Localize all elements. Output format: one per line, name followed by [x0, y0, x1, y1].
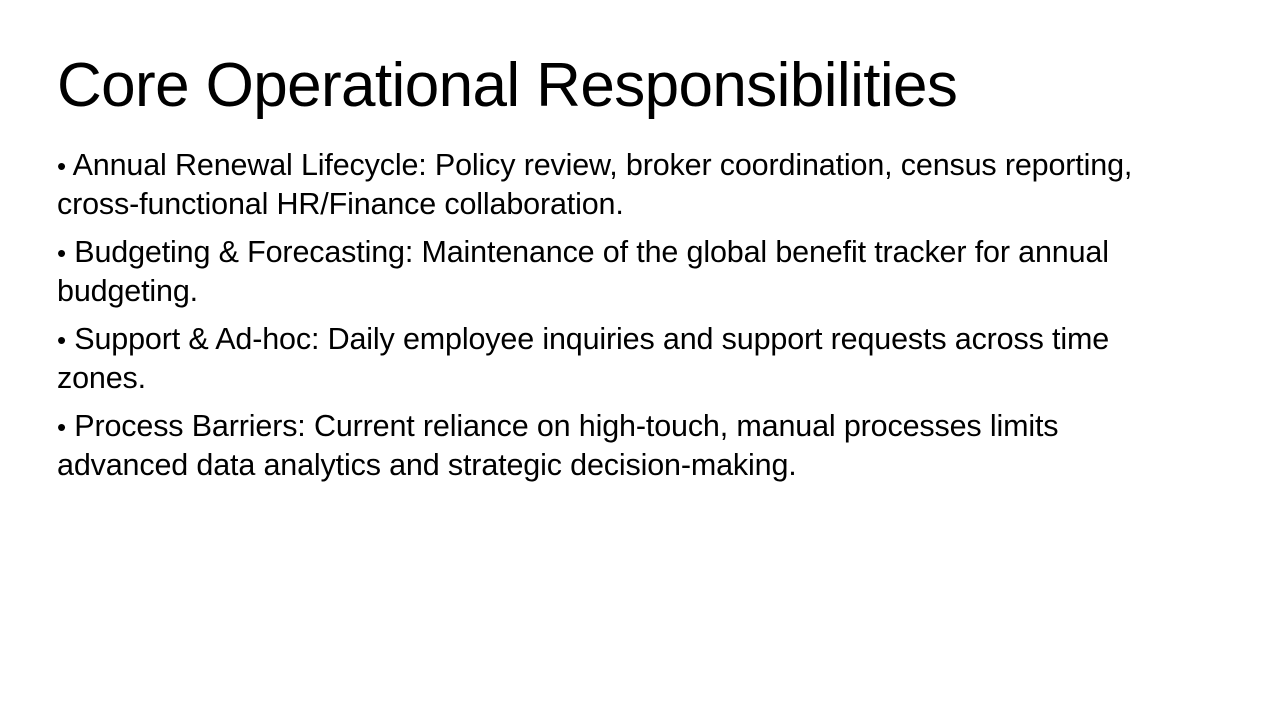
list-item-text: Process Barriers: Current reliance on hi…	[57, 409, 1058, 482]
list-item: • Process Barriers: Current reliance on …	[57, 407, 1192, 484]
slide-canvas: Core Operational Responsibilities • Annu…	[0, 0, 1280, 720]
bullet-point-icon: •	[57, 151, 66, 181]
list-item-text: Budgeting & Forecasting: Maintenance of …	[57, 235, 1109, 308]
list-item: • Budgeting & Forecasting: Maintenance o…	[57, 233, 1192, 310]
bullet-point-icon: •	[57, 238, 66, 268]
bullet-point-icon: •	[57, 412, 66, 442]
list-item: • Support & Ad-hoc: Daily employee inqui…	[57, 320, 1192, 397]
page-title: Core Operational Responsibilities	[57, 50, 1227, 122]
list-item-text: Support & Ad-hoc: Daily employee inquiri…	[57, 322, 1109, 395]
bullet-point-icon: •	[57, 325, 66, 355]
list-item: • Annual Renewal Lifecycle: Policy revie…	[57, 146, 1192, 223]
bullet-list: • Annual Renewal Lifecycle: Policy revie…	[57, 146, 1192, 484]
list-item-text: Annual Renewal Lifecycle: Policy review,…	[57, 148, 1132, 221]
